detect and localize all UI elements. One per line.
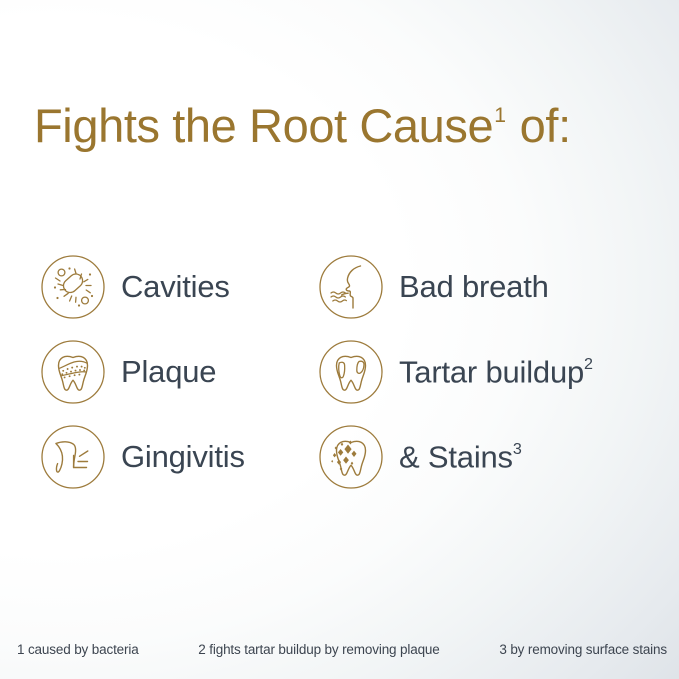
feature-label-text: Cavities (121, 269, 230, 304)
feature-item-bad-breath: Bad breath (318, 244, 593, 329)
feature-item-cavities: Cavities (40, 244, 245, 329)
feature-label-cavities: Cavities (121, 271, 230, 302)
feature-label-tartar-buildup: Tartar buildup2 (399, 356, 593, 388)
feature-label-text: Plaque (121, 354, 216, 389)
infographic-panel: Fights the Root Cause1 of: (0, 0, 679, 679)
plaque-tooth-icon (40, 339, 106, 405)
page-title-text: Fights the Root Cause (34, 99, 493, 152)
feature-label-superscript: 2 (584, 355, 593, 373)
feature-item-gingivitis: Gingivitis (40, 414, 245, 499)
feature-label-bad-breath: Bad breath (399, 271, 549, 302)
feature-label-text: & Stains (399, 439, 513, 474)
page-title-suffix: of: (507, 99, 571, 152)
feature-column-right: Bad breath Tartar buildup2 (318, 244, 593, 499)
tartar-tooth-icon (318, 339, 384, 405)
feature-label-stains: & Stains3 (399, 441, 522, 473)
feature-column-left: Cavities (40, 244, 245, 499)
footnote-3: 3 by removing surface stains (499, 642, 667, 657)
bacteria-icon (40, 254, 106, 320)
feature-label-text: Gingivitis (121, 439, 245, 474)
feature-item-tartar-buildup: Tartar buildup2 (318, 329, 593, 414)
gingivitis-gum-icon (40, 424, 106, 490)
feature-label-superscript: 3 (513, 440, 522, 458)
page-title: Fights the Root Cause1 of: (34, 102, 571, 149)
footnote-2: 2 fights tartar buildup by removing plaq… (198, 642, 439, 657)
bad-breath-face-icon (318, 254, 384, 320)
feature-label-text: Bad breath (399, 269, 549, 304)
stains-tooth-icon (318, 424, 384, 490)
feature-label-text: Tartar buildup (399, 354, 584, 389)
feature-label-gingivitis: Gingivitis (121, 441, 245, 472)
page-title-superscript: 1 (494, 104, 506, 127)
feature-item-stains: & Stains3 (318, 414, 593, 499)
feature-item-plaque: Plaque (40, 329, 245, 414)
footnote-row: 1 caused by bacteria 2 fights tartar bui… (17, 642, 667, 657)
feature-label-plaque: Plaque (121, 356, 216, 387)
footnote-1: 1 caused by bacteria (17, 642, 139, 657)
